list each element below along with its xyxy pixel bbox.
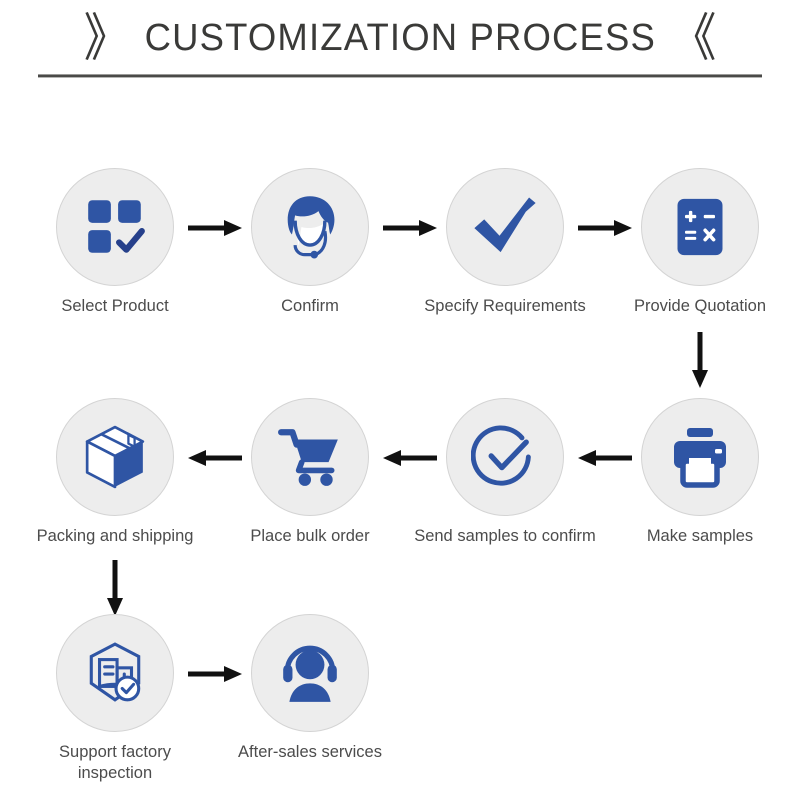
factory-inspection-icon [82,640,148,706]
page-header: 》 CUSTOMIZATION PROCESS 《 [0,0,800,92]
step-select-product[interactable]: Select Product [20,168,210,317]
step-label: Packing and shipping [20,526,210,547]
step-confirm[interactable]: Confirm [215,168,405,317]
chevron-left-double-icon: 《 [670,12,716,64]
step-icon-bubble [251,614,369,732]
step-icon-bubble [641,168,759,286]
step-label: Send samples to confirm [410,526,600,547]
checkmark-icon [470,192,540,262]
step-label: Make samples [605,526,795,547]
step-icon-bubble [56,398,174,516]
step-icon-bubble [641,398,759,516]
page-title: CUSTOMIZATION PROCESS [144,17,655,60]
step-label: After-sales services [215,742,405,763]
step-icon-bubble [56,168,174,286]
step-icon-bubble [251,168,369,286]
chevron-right-double-icon: 》 [84,12,130,64]
calculator-icon [670,197,730,257]
step-label: Support factory inspection [20,742,210,784]
step-packing-and-shipping[interactable]: Packing and shipping [20,398,210,547]
grid-check-icon [82,194,148,260]
step-icon-bubble [446,398,564,516]
step-provide-quotation[interactable]: Provide Quotation [605,168,795,317]
printer-icon [668,425,732,489]
step-make-samples[interactable]: Make samples [605,398,795,547]
circle-check-icon [471,423,539,491]
step-label: Provide Quotation [605,296,795,317]
step-label: Specify Requirements [410,296,600,317]
step-send-samples-to-confirm[interactable]: Send samples to confirm [410,398,600,547]
step-icon-bubble [446,168,564,286]
package-box-icon [82,424,148,490]
title-divider [38,74,762,78]
step-label: Confirm [215,296,405,317]
step-label: Select Product [20,296,210,317]
title-row: 》 CUSTOMIZATION PROCESS 《 [0,8,800,68]
step-label: Place bulk order [215,526,405,547]
arrow-step8-to-step9 [105,558,125,618]
shopping-cart-icon [277,424,343,490]
arrow-step4-to-step5 [690,330,710,390]
headset-operator-icon [276,193,344,261]
step-after-sales-services[interactable]: After-sales services [215,614,405,763]
step-icon-bubble [251,398,369,516]
step-place-bulk-order[interactable]: Place bulk order [215,398,405,547]
step-icon-bubble [56,614,174,732]
step-support-factory-inspection[interactable]: Support factory inspection [20,614,210,784]
step-specify-requirements[interactable]: Specify Requirements [410,168,600,317]
customer-support-icon [277,640,343,706]
